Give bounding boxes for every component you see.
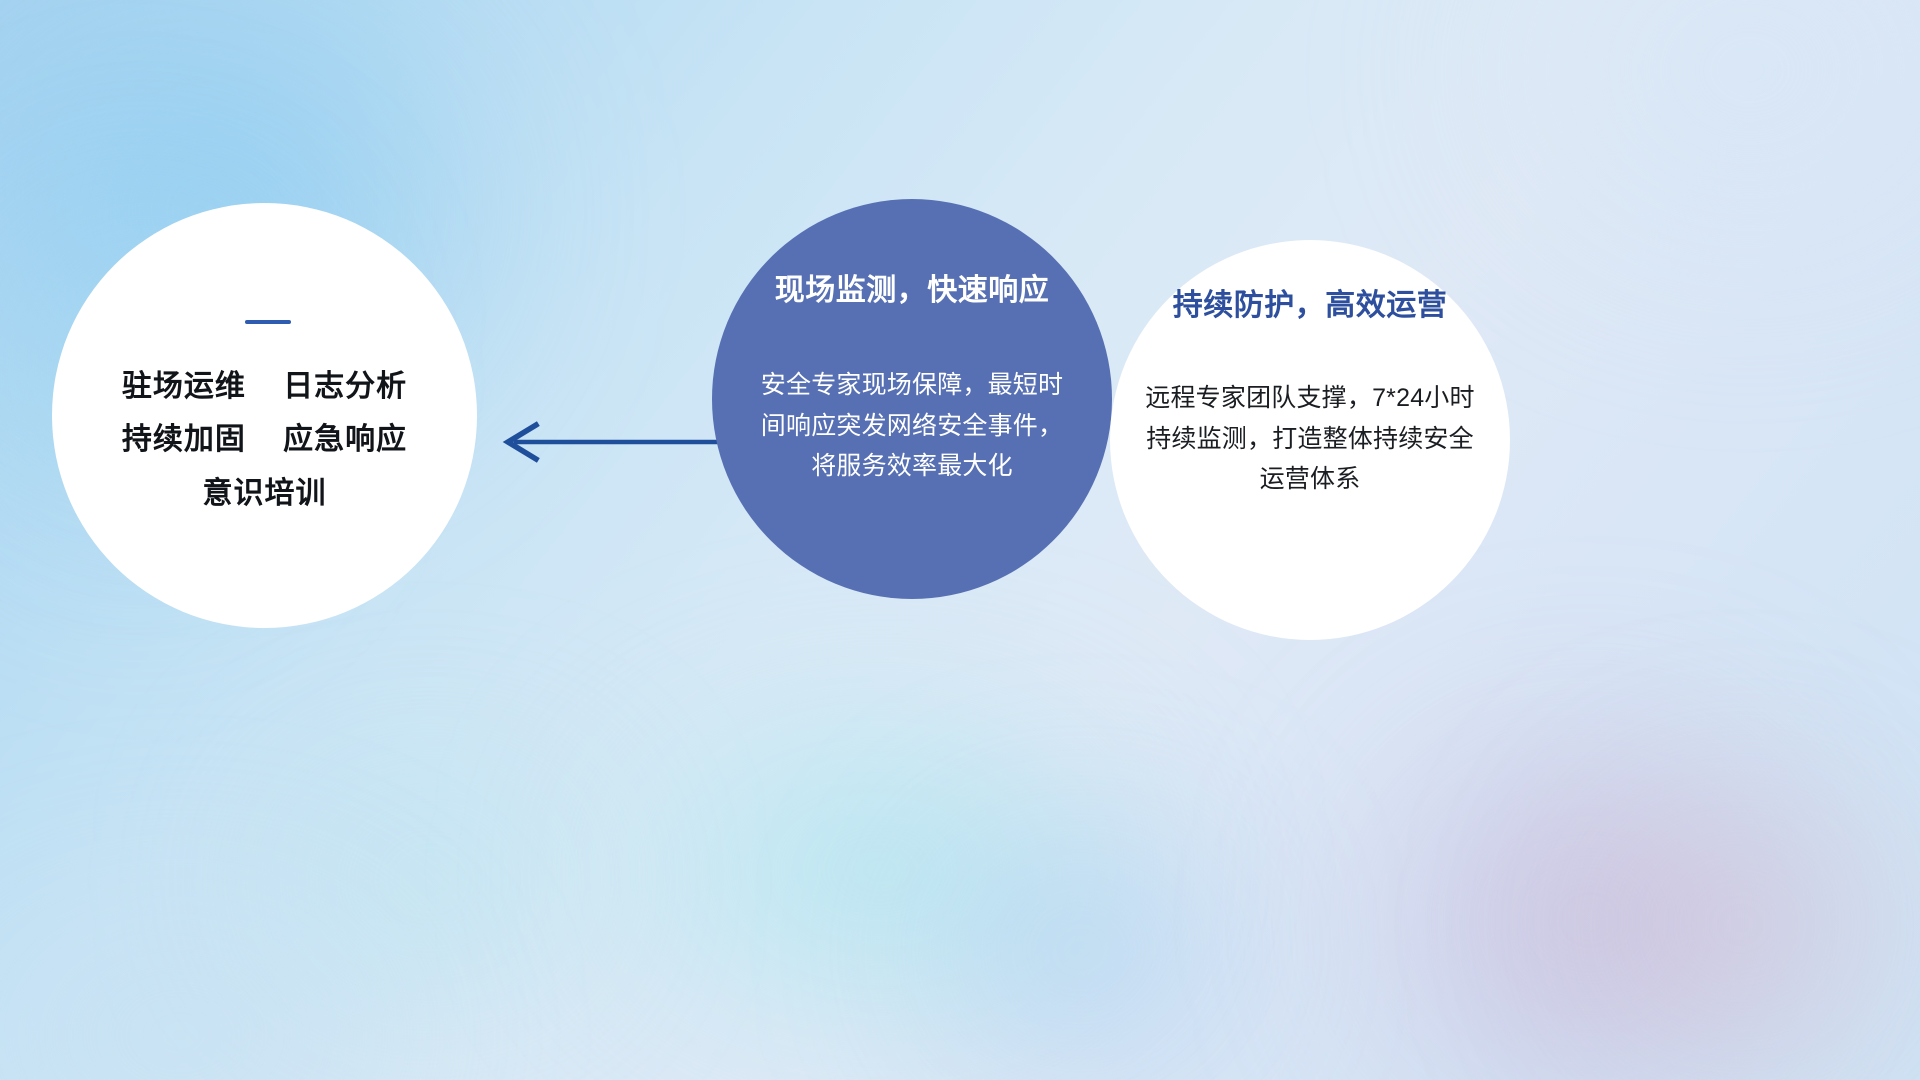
left-circle-line-3: 意识培训 [203, 477, 327, 512]
right-operations-circle[interactable]: 持续防护，高效运营 远程专家团队支撑，7*24小时持续监测，打造整体持续安全运营… [1110, 240, 1510, 640]
left-circle-line-2: 持续加固 应急响应 [122, 423, 407, 458]
mid-circle-title: 现场监测，快速响应 [775, 273, 1050, 309]
divider-rule-icon [245, 320, 291, 324]
right-circle-title: 持续防护，高效运营 [1173, 288, 1448, 324]
arrow-left-icon [492, 416, 728, 468]
mid-onsite-circle[interactable]: 现场监测，快速响应 安全专家现场保障，最短时间响应突发网络安全事件，将服务效率最… [712, 199, 1112, 599]
left-capability-circle[interactable]: 驻场运维 日志分析 持续加固 应急响应 意识培训 [52, 203, 477, 628]
slide-canvas: 驻场运维 日志分析 持续加固 应急响应 意识培训 现场监测，快速响应 安全专家现… [0, 0, 1920, 1080]
left-circle-text-block: 驻场运维 日志分析 持续加固 应急响应 意识培训 [122, 370, 407, 512]
right-circle-body: 远程专家团队支撑，7*24小时持续监测，打造整体持续安全运营体系 [1136, 378, 1484, 500]
left-circle-line-1: 驻场运维 日志分析 [122, 370, 407, 405]
flow-arrow [492, 416, 728, 468]
mid-circle-body: 安全专家现场保障，最短时间响应突发网络安全事件，将服务效率最大化 [756, 365, 1068, 487]
